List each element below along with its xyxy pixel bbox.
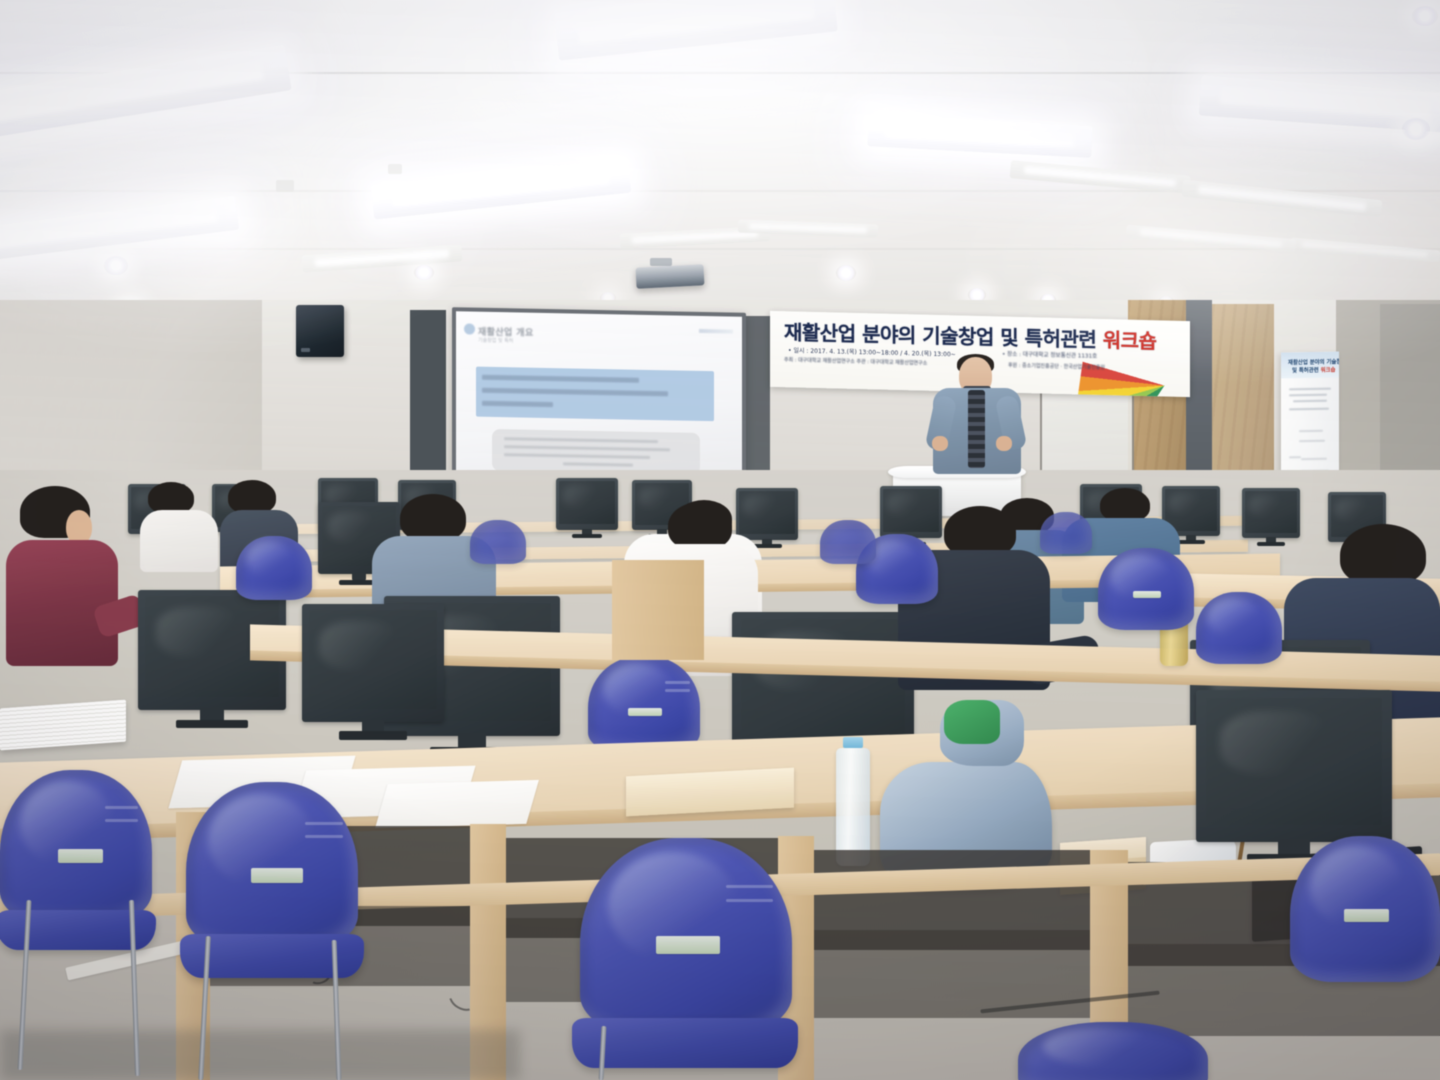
projection-screen: 재활산업 개요 기술창업 및 특허 <box>452 307 746 487</box>
paper-stack <box>0 700 126 751</box>
rollup-banner-line2: 및 특허관련 워크숍 <box>1292 366 1335 375</box>
banner-sponsors: 후원 : 중소기업진흥공단 · 한국산업기술진흥원 <box>1008 362 1105 371</box>
downlight-icon <box>414 265 434 280</box>
slide-note-box <box>492 429 700 475</box>
presenter-shirt-placket <box>968 390 985 468</box>
chair <box>186 782 358 948</box>
ceiling-light <box>371 159 631 220</box>
ceiling <box>0 0 1440 322</box>
ceiling-light <box>0 196 239 262</box>
chair <box>1196 592 1282 664</box>
projector <box>635 264 704 289</box>
downlight-icon <box>1412 6 1438 26</box>
green-fabric <box>944 700 1000 744</box>
chair <box>580 838 792 1034</box>
downlight-icon <box>1402 118 1430 140</box>
wall-recess <box>746 316 770 484</box>
monitor <box>732 612 914 752</box>
wall-recess <box>1380 304 1440 494</box>
chair <box>1290 836 1440 982</box>
floor-shadow <box>0 1030 520 1080</box>
wall-speaker <box>296 305 344 357</box>
projector-mount <box>650 258 672 266</box>
water-bottle <box>836 748 870 866</box>
monitor <box>1242 488 1300 538</box>
chair <box>820 520 876 564</box>
desk-side-panel <box>612 560 704 660</box>
ceiling-light <box>1290 237 1440 262</box>
wall-recess <box>410 310 446 490</box>
presenter-left-hand <box>932 436 948 451</box>
banner-place: • 장소 : 대구대학교 정보통신관 1131호 <box>1002 350 1097 360</box>
slide-logo-icon <box>464 323 475 334</box>
chair <box>1018 1022 1208 1080</box>
slide-corner-mark <box>699 329 733 334</box>
monitor <box>880 486 942 538</box>
ceiling-light <box>0 44 292 141</box>
ceiling-light <box>867 114 1092 158</box>
chair <box>470 520 526 564</box>
ceiling-light <box>554 0 837 61</box>
ceiling-light <box>1010 160 1191 194</box>
slide-subtitle: 기술창업 및 특허 <box>478 337 513 345</box>
papers <box>375 780 539 828</box>
downlight-icon <box>104 256 128 275</box>
presenter-right-hand <box>996 436 1012 451</box>
monitor <box>302 604 444 722</box>
classroom-workshop-photo: 재활산업 개요 기술창업 및 특허 재활산업 분야의 기술창업 및 특허관련 워… <box>0 0 1440 1080</box>
rollup-line2-accent: 워크숍 <box>1321 368 1336 374</box>
chair <box>0 770 152 922</box>
monitor <box>736 488 798 540</box>
chair <box>236 536 312 600</box>
rollup-line2-text: 및 특허관련 <box>1292 368 1321 374</box>
banner-title-highlight: 워크숍 <box>1103 328 1157 353</box>
chair <box>588 656 700 752</box>
slide-highlight-block <box>476 367 714 422</box>
ceiling-light <box>1182 180 1383 218</box>
monitor <box>556 478 618 530</box>
chair <box>1040 512 1092 554</box>
chair <box>1098 548 1194 630</box>
banner-hosts: 주최 : 대구대학교 재활산업연구소 주관 : 대구대학교 재활산업연구소 <box>784 356 927 367</box>
downlight-icon <box>836 265 856 281</box>
monitor <box>1196 690 1392 842</box>
